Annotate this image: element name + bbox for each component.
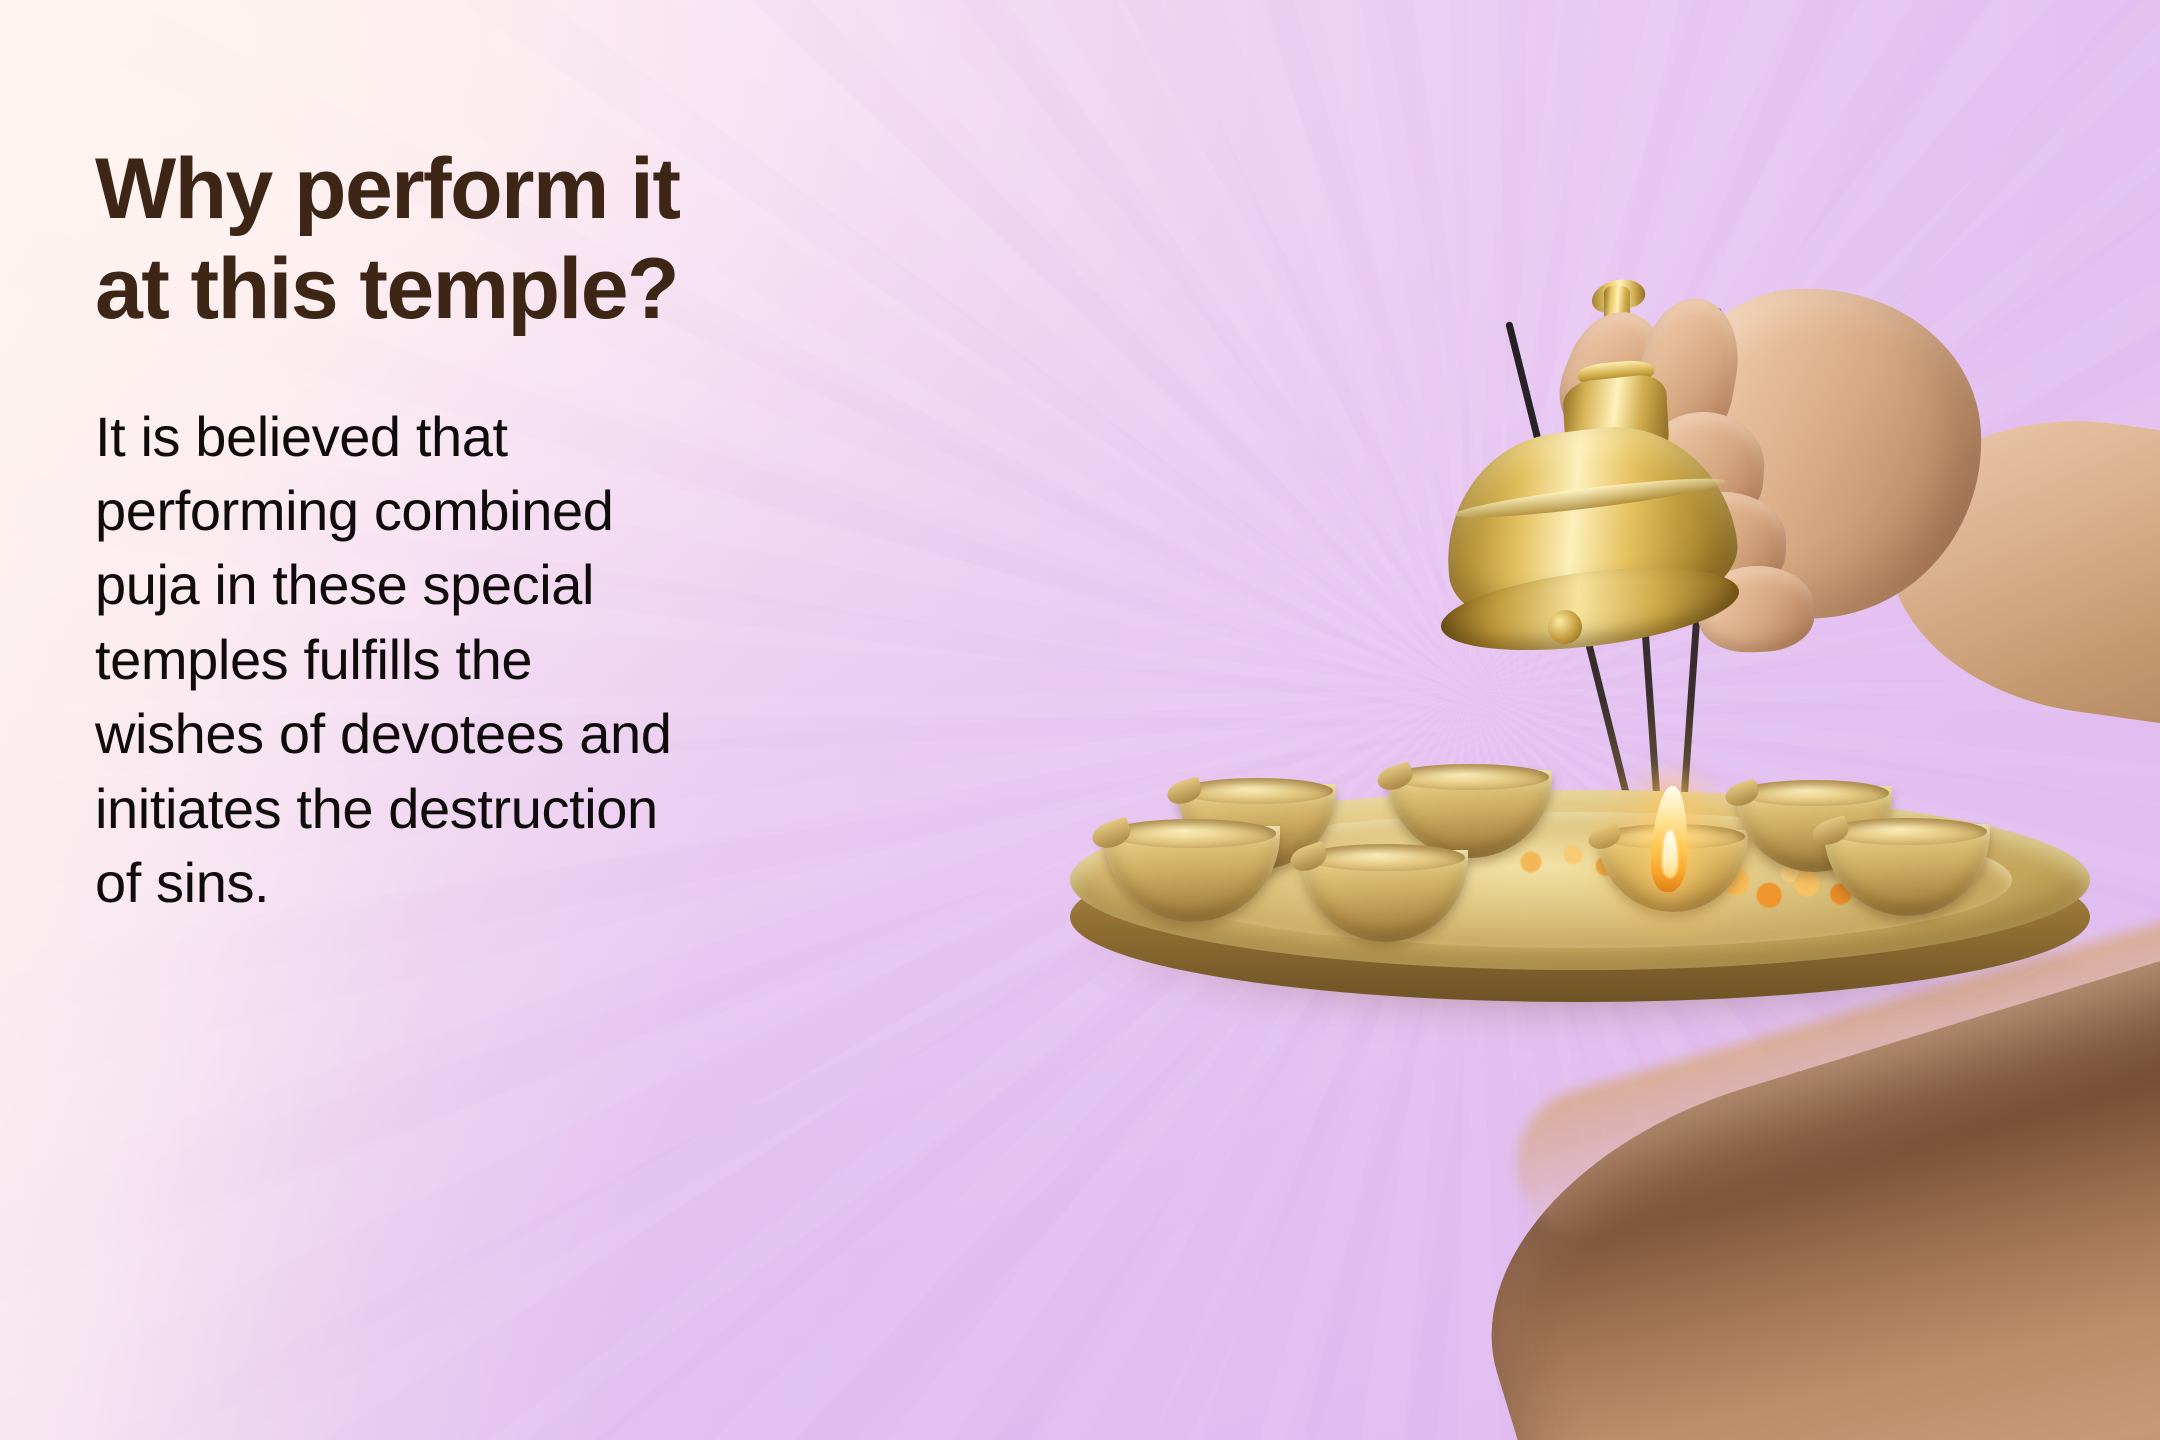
slide-root: Why perform it at this temple? It is bel… [0,0,2160,1440]
text-column: Why perform it at this temple? It is bel… [95,140,995,921]
puja-photo [1020,0,2160,1440]
page-title: Why perform it at this temple? [95,140,995,340]
body-paragraph: It is believed that performing combined … [95,400,975,921]
bell-group [1248,280,1808,700]
